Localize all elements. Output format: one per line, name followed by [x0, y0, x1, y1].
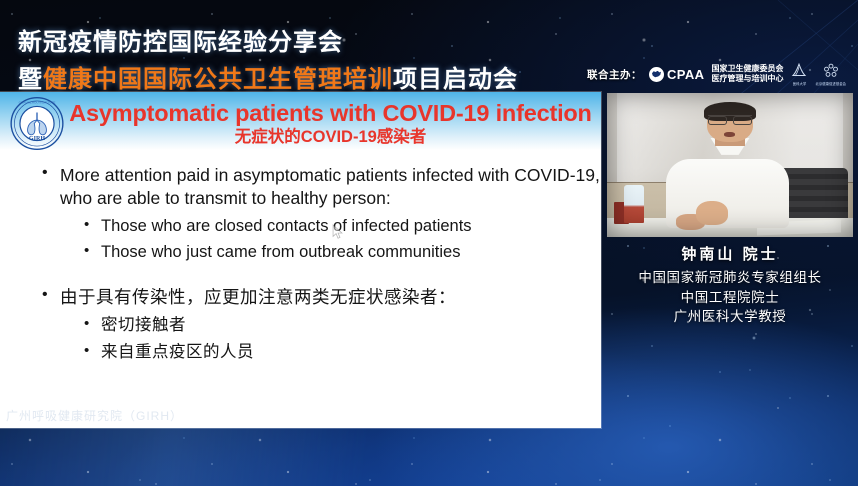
- girh-institute-logo-icon: GIRH GUANGZHOU INSTITUTE: [8, 96, 66, 151]
- svg-text:GIRH: GIRH: [29, 136, 45, 142]
- bullet-text: More attention paid in asymptomatic pati…: [60, 165, 600, 208]
- slide-body: More attention paid in asymptomatic pati…: [0, 164, 601, 368]
- broadcast-stage: 新冠疫情防控国际经验分享会 暨健康中国国际公共卫生管理培训项目启动会 联合主办：…: [0, 0, 858, 486]
- video-vignette: [607, 93, 853, 237]
- sub-bullet-list: 密切接触者 来自重点疫区的人员: [82, 315, 601, 364]
- sub-bullet-text: Those who just came from outbreak commun…: [101, 243, 460, 261]
- presentation-slide[interactable]: GIRH GUANGZHOU INSTITUTE Asymptomatic pa…: [0, 92, 601, 428]
- foundation-flower-icon: [822, 62, 840, 80]
- slide-title-group: Asymptomatic patients with COVID-19 infe…: [66, 100, 595, 148]
- svg-text:GUANGZHOU INSTITUTE: GUANGZHOU INSTITUTE: [19, 101, 56, 105]
- sub-bullet-text: Those who are closed contacts of infecte…: [101, 217, 472, 235]
- bullet-item: More attention paid in asymptomatic pati…: [40, 164, 601, 264]
- speaker-title-2: 中国工程院院士: [607, 288, 853, 308]
- cpaa-logo-text: CPAA: [667, 67, 704, 82]
- bullet-item: 由于具有传染性，应更加注意两类无症状感染者： 密切接触者 来自重点疫区的人员: [40, 286, 601, 363]
- cohost-label: 联合主办：: [587, 67, 642, 82]
- hospital-logo-caption: 医科大学: [793, 81, 807, 86]
- foundation-logo: 北京健康促进基金会: [815, 62, 846, 86]
- cpaa-logo: CPAA: [649, 67, 704, 82]
- speaker-name: 钟南山 院士: [607, 243, 853, 264]
- cpaa-mark-icon: [649, 67, 664, 82]
- event-title-line-2: 暨健康中国国际公共卫生管理培训项目启动会: [18, 59, 518, 94]
- event-header-banner: 新冠疫情防控国际经验分享会 暨健康中国国际公共卫生管理培训项目启动会 联合主办：…: [0, 0, 858, 92]
- event-title-line-2-accent: 健康中国国际公共卫生管理培训: [43, 66, 393, 93]
- slide-watermark: 广州呼吸健康研究院（GIRH）: [6, 407, 183, 424]
- slide-bullet-block-chinese: 由于具有传染性，应更加注意两类无症状感染者： 密切接触者 来自重点疫区的人员: [40, 286, 601, 363]
- bullet-text: 由于具有传染性，应更加注意两类无症状感染者：: [60, 287, 456, 307]
- event-title-line-2-suffix: 项目启动会: [393, 66, 518, 93]
- event-title-line-2-prefix: 暨: [18, 66, 43, 93]
- sub-bullet-item: 来自重点疫区的人员: [82, 342, 601, 364]
- foundation-logo-caption: 北京健康促进基金会: [815, 81, 846, 86]
- hospital-emblem-icon: [790, 62, 808, 80]
- hospital-logo: 医科大学: [790, 62, 808, 86]
- speaker-title-3: 广州医科大学教授: [607, 307, 853, 327]
- nhc-logo-line-2: 医疗管理与培训中心: [711, 74, 783, 83]
- sub-bullet-item: Those who just came from outbreak commun…: [82, 242, 601, 264]
- nhc-training-center-logo: 国家卫生健康委员会 医疗管理与培训中心: [711, 64, 783, 84]
- slide-title-chinese: 无症状的COVID-19感染者: [66, 128, 595, 148]
- speaker-caption: 钟南山 院士 中国国家新冠肺炎专家组组长 中国工程院院士 广州医科大学教授: [607, 243, 853, 327]
- slide-title-english: Asymptomatic patients with COVID-19 infe…: [66, 100, 595, 126]
- sub-bullet-text: 密切接触者: [101, 316, 186, 334]
- sub-bullet-text: 来自重点疫区的人员: [101, 343, 254, 361]
- sub-bullet-list: Those who are closed contacts of infecte…: [82, 216, 601, 265]
- event-title-line-1: 新冠疫情防控国际经验分享会: [18, 22, 343, 57]
- slide-bullet-block-english: More attention paid in asymptomatic pati…: [40, 164, 601, 264]
- sub-bullet-item: Those who are closed contacts of infecte…: [82, 216, 601, 238]
- cohost-logo-strip: 联合主办： CPAA 国家卫生健康委员会 医疗管理与培训中心 医科大学: [587, 62, 846, 86]
- speaker-video-feed[interactable]: [607, 93, 853, 237]
- nhc-logo-line-1: 国家卫生健康委员会: [711, 64, 783, 73]
- sub-bullet-item: 密切接触者: [82, 315, 601, 337]
- speaker-title-1: 中国国家新冠肺炎专家组组长: [607, 268, 853, 288]
